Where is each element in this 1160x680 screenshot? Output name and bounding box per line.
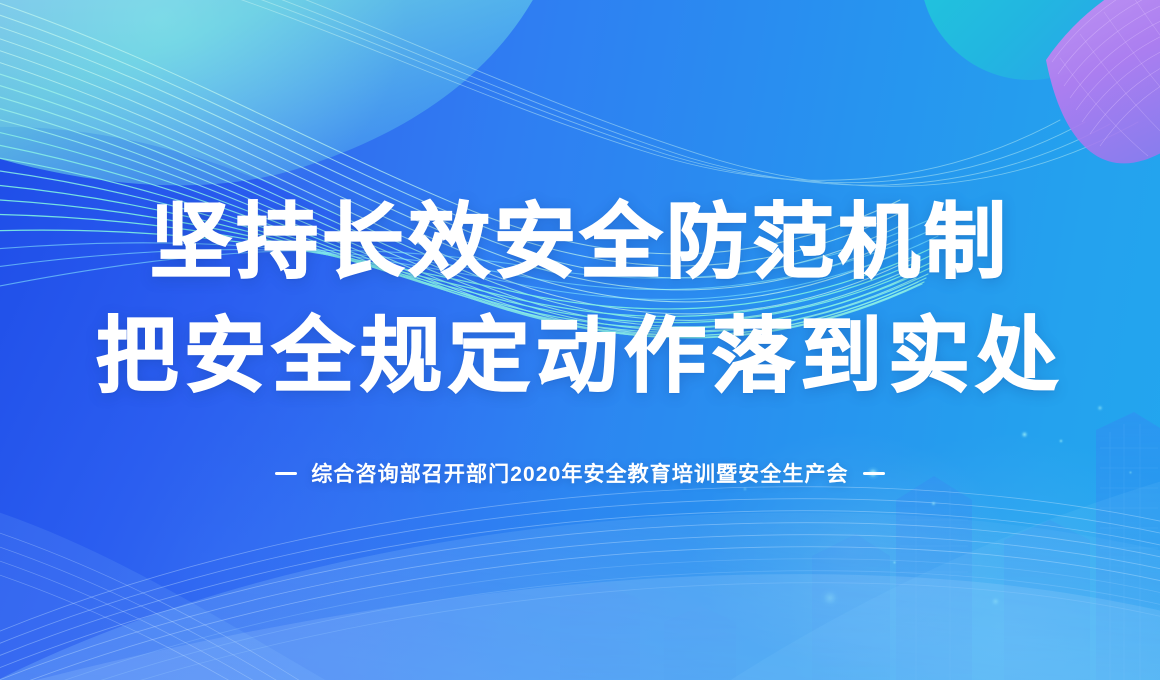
- glow-dot: [892, 560, 897, 565]
- glow-dot: [990, 596, 1001, 607]
- glow-dot: [930, 500, 937, 507]
- subtitle-text: 综合咨询部召开部门2020年安全教育培训暨安全生产会: [311, 458, 848, 488]
- headline-line-2: 把安全规定动作落到实处: [0, 300, 1160, 414]
- dash-right-icon: [863, 472, 885, 475]
- dash-left-icon: [275, 472, 297, 475]
- glow-dot: [820, 588, 840, 608]
- banner-content: 坚持长效安全防范机制 把安全规定动作落到实处 综合咨询部召开部门2020年安全教…: [0, 186, 1160, 488]
- promo-banner: 坚持长效安全防范机制 把安全规定动作落到实处 综合咨询部召开部门2020年安全教…: [0, 0, 1160, 680]
- headline-line-1: 坚持长效安全防范机制: [0, 186, 1160, 300]
- subtitle-row: 综合咨询部召开部门2020年安全教育培训暨安全生产会: [0, 458, 1160, 488]
